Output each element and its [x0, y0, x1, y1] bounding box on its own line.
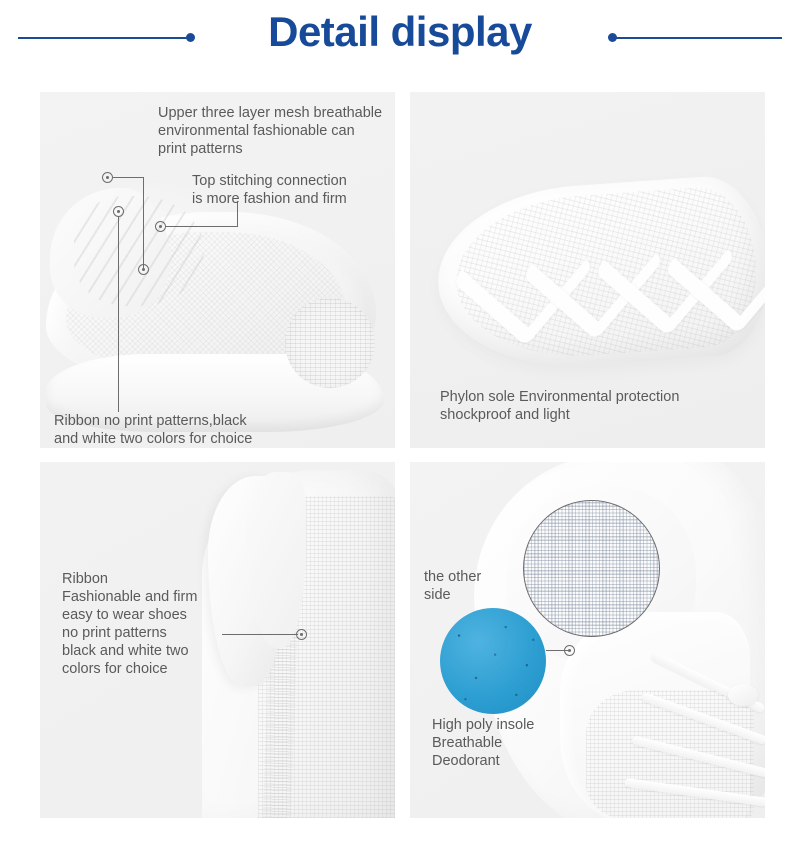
marker-ribbon-heel	[296, 629, 307, 640]
top-stitching-callout: Top stitching connection is more fashion…	[192, 172, 347, 208]
heel-pull-tab	[208, 476, 286, 686]
header-rule-right	[616, 37, 782, 39]
shoe-lace	[624, 778, 765, 807]
ribbon-print-callout: Ribbon no print patterns,black and white…	[54, 412, 252, 448]
page-title: Detail display	[0, 8, 800, 56]
shoe-lace	[631, 735, 765, 778]
upper-mesh-callout: Upper three layer mesh breathable enviro…	[158, 104, 382, 158]
shoe-laces	[74, 196, 204, 306]
shoe-upper-shape	[46, 212, 376, 392]
marker-ribbon-print	[113, 206, 124, 217]
detail-display-page: Detail display Upper three layer mesh br…	[0, 0, 800, 853]
marker-upper-mesh	[102, 172, 113, 183]
leader-ribbon-heel	[222, 634, 298, 635]
leader-stitch-h	[166, 226, 238, 227]
heel-mesh-texture	[258, 496, 395, 818]
marker-top-stitching	[155, 221, 166, 232]
heel-pull-tab-inner	[246, 472, 306, 648]
page-header: Detail display	[0, 0, 800, 80]
stitching-zoom-circle	[285, 298, 375, 388]
mesh-texture	[66, 232, 346, 377]
leader-ribbon-v	[118, 216, 119, 412]
other-side-callout: the other side	[424, 568, 481, 604]
mesh-zoom-swatch	[523, 500, 660, 637]
high-poly-insole-callout: High poly insole Breathable Deodorant	[432, 716, 534, 770]
shoe-collar	[50, 188, 170, 318]
marker-mesh-lower	[138, 264, 149, 275]
leader-mesh-h	[113, 177, 144, 178]
blue-insole-swatch	[440, 608, 546, 714]
ribbon-heel-callout: Ribbon Fashionable and firm easy to wear…	[62, 570, 197, 678]
phylon-sole-callout: Phylon sole Environmental protection sho…	[440, 388, 679, 424]
marker-insole	[564, 645, 575, 656]
heel-ribbon	[263, 522, 301, 818]
leader-mesh-v	[143, 177, 144, 269]
shoe-heel-shape	[202, 470, 395, 818]
